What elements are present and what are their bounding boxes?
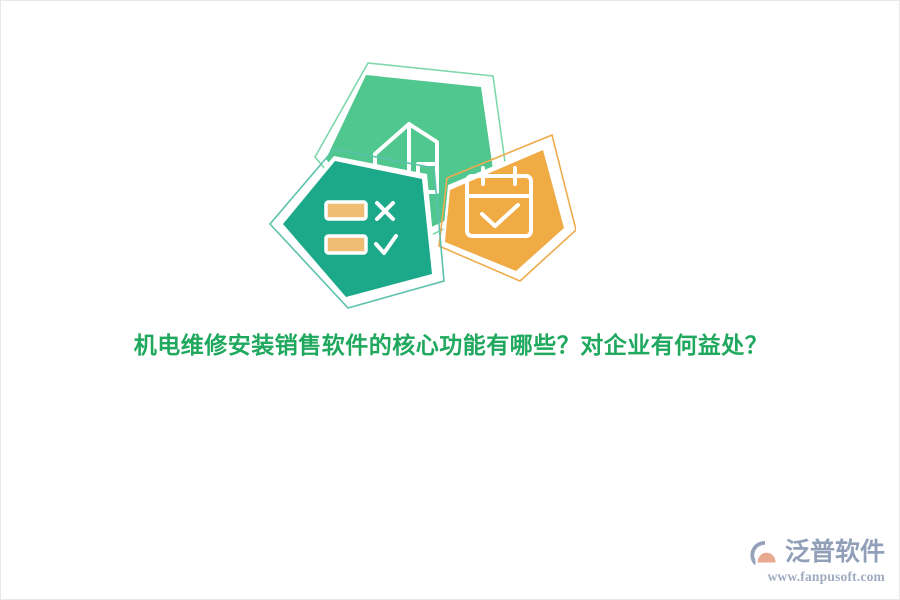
brand-name: 泛普软件: [785, 538, 885, 568]
hero-graphic: [256, 46, 576, 321]
page-canvas: 机电维修安装销售软件的核心功能有哪些？对企业有何益处？ 泛普软件 www.fan…: [0, 0, 900, 600]
brand-url: www.fanpusoft.com: [768, 569, 885, 585]
checklist-bar-top: [326, 202, 366, 219]
pentagon-teal-group: [270, 149, 444, 308]
brand-row: 泛普软件: [749, 536, 885, 570]
checklist-bar-bottom: [326, 236, 366, 253]
page-title: 机电维修安装销售软件的核心功能有哪些？对企业有何益处？: [1, 331, 900, 361]
fanpu-swoosh-logo-icon: [749, 538, 781, 568]
brand-watermark: 泛普软件 www.fanpusoft.com: [757, 529, 885, 585]
